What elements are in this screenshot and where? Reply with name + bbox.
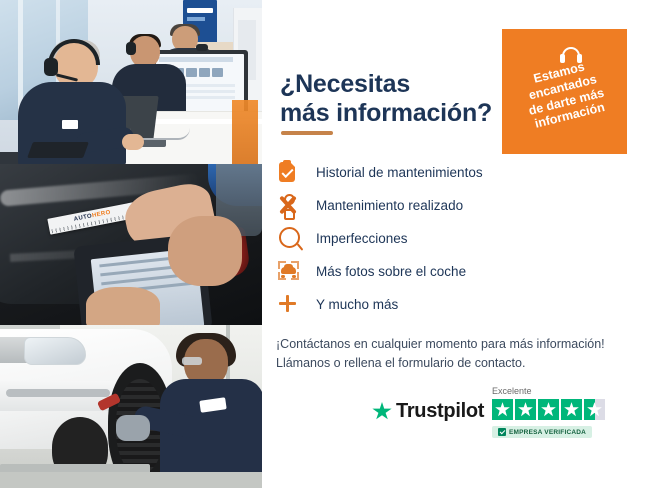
desk-tablet [27, 142, 89, 158]
inspector-fingers [86, 287, 160, 325]
trustpilot-wordmark: Trustpilot [396, 400, 484, 423]
trustpilot-logo[interactable]: Trustpilot [372, 400, 484, 423]
orange-equipment [232, 100, 258, 164]
trustpilot-block: Trustpilot Excelente EMPRESA VERIFICADA [372, 386, 632, 450]
star-1 [492, 399, 513, 420]
feature-label: Y mucho más [316, 297, 398, 312]
feature-item-imperfecciones: Imperfecciones [276, 222, 576, 254]
star-rating [492, 399, 610, 420]
trustpilot-star-icon [372, 402, 392, 421]
verified-badge: EMPRESA VERIFICADA [492, 426, 592, 438]
content-panel: ¿Necesitas más información? Estamos enca… [262, 0, 650, 488]
feature-label: Mantenimiento realizado [316, 198, 463, 213]
feature-label: Historial de mantenimientos [316, 165, 483, 180]
star-5 [584, 399, 605, 420]
car-inspection-ruler-photo: AUTOHERO [0, 164, 262, 325]
feature-label: Más fotos sobre el coche [316, 264, 466, 279]
star-4 [561, 399, 582, 420]
plus-icon [276, 292, 306, 316]
mechanic-wheel-photo [0, 325, 262, 488]
star-3 [538, 399, 559, 420]
feature-label: Imperfecciones [316, 231, 408, 246]
feature-item-mantenimiento: Mantenimiento realizado [276, 189, 576, 221]
page-title: ¿Necesitas más información? [280, 70, 530, 129]
rating-label: Excelente [492, 386, 610, 396]
contact-line-1: ¡Contáctanos en cualquier momento para m… [276, 335, 628, 354]
photo-column: AUTOHERO [0, 0, 262, 488]
feature-item-fotos: Más fotos sobre el coche [276, 255, 576, 287]
promo-card: AUTOHERO [0, 0, 650, 488]
page-title-line-2: más información? [280, 99, 530, 129]
page-title-line-1: ¿Necesitas [280, 70, 410, 98]
title-underline [281, 131, 333, 135]
call-center-agents-photo [0, 0, 262, 164]
car-photo-icon [276, 259, 306, 283]
check-icon [498, 428, 506, 436]
feature-item-mas: Y mucho más [276, 288, 576, 320]
headlight [24, 337, 86, 365]
contact-text: ¡Contáctanos en cualquier momento para m… [276, 335, 628, 374]
tools-icon [276, 193, 306, 217]
verified-label: EMPRESA VERIFICADA [509, 429, 586, 436]
support-badge: Estamos encantados de darte más informac… [502, 29, 627, 154]
star-2 [515, 399, 536, 420]
mechanic [160, 335, 262, 488]
clipboard-check-icon [276, 160, 306, 184]
inspector-hand-2 [168, 216, 242, 286]
webcam [196, 44, 208, 51]
feature-list: Historial de mantenimientos Mantenimient… [276, 156, 576, 321]
contact-line-2: Llámanos o rellena el formulario de cont… [276, 354, 628, 373]
magnifier-icon [276, 226, 306, 250]
trustpilot-rating: Excelente [492, 386, 610, 420]
feature-item-historial: Historial de mantenimientos [276, 156, 576, 188]
